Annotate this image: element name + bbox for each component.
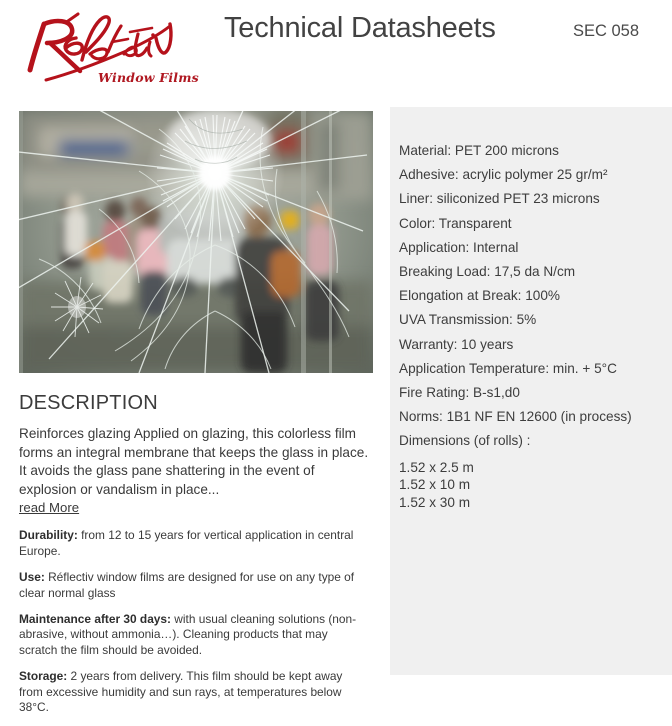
note-label: Use: [19,570,45,584]
note-text: Réflectiv window films are designed for … [19,570,354,599]
dimension-item: 1.52 x 30 m [399,494,672,512]
spec-fire-rating: Fire Rating: B-s1,d0 [399,381,672,405]
spec-uva-transmission: UVA Transmission: 5% [399,308,672,332]
note-label: Durability: [19,528,78,542]
notes-list: Durability: from 12 to 15 years for vert… [19,528,369,715]
dimensions-list: 1.52 x 2.5 m 1.52 x 10 m 1.52 x 30 m [399,459,672,512]
note-use: Use: Réflectiv window films are designed… [19,570,369,601]
document-reference: SEC 058 [573,22,639,41]
product-photo [19,111,373,373]
spec-application: Application: Internal [399,236,672,260]
spec-breaking-load: Breaking Load: 17,5 da N/cm [399,260,672,284]
note-storage: Storage: 2 years from delivery. This fil… [19,669,369,715]
reflectiv-logo[interactable]: Window Films [20,8,180,90]
note-label: Storage: [19,669,67,683]
dimension-item: 1.52 x 2.5 m [399,459,672,477]
page-content: DESCRIPTION Reinforces glazing Applied o… [0,100,672,675]
spec-warranty: Warranty: 10 years [399,333,672,357]
spec-elongation: Elongation at Break: 100% [399,284,672,308]
description-heading: DESCRIPTION [19,392,374,415]
note-durability: Durability: from 12 to 15 years for vert… [19,528,369,559]
logo-tagline: Window Films [98,70,199,85]
page-title: Technical Datasheets [224,12,496,45]
read-more-link[interactable]: read More [19,500,79,515]
spec-material: Material: PET 200 microns [399,139,672,163]
spec-norms: Norms: 1B1 NF EN 12600 (in process) [399,405,672,429]
note-label: Maintenance after 30 days: [19,612,171,626]
spec-adhesive: Adhesive: acrylic polymer 25 gr/m² [399,163,672,187]
spec-dimensions-label: Dimensions (of rolls) : [399,429,672,453]
description-body: Reinforces glazing Applied on glazing, t… [19,425,371,499]
left-column: DESCRIPTION Reinforces glazing Applied o… [19,100,374,726]
page-header: Window Films Technical Datasheets SEC 05… [0,0,672,100]
spec-color: Color: Transparent [399,212,672,236]
note-text: 2 years from delivery. This film should … [19,669,342,714]
spec-application-temperature: Application Temperature: min. + 5°C [399,357,672,381]
specifications-panel: Material: PET 200 microns Adhesive: acry… [390,107,672,675]
shattered-glass-illustration [19,111,373,373]
spec-liner: Liner: siliconized PET 23 microns [399,187,672,211]
dimension-item: 1.52 x 10 m [399,476,672,494]
note-maintenance: Maintenance after 30 days: with usual cl… [19,612,369,658]
